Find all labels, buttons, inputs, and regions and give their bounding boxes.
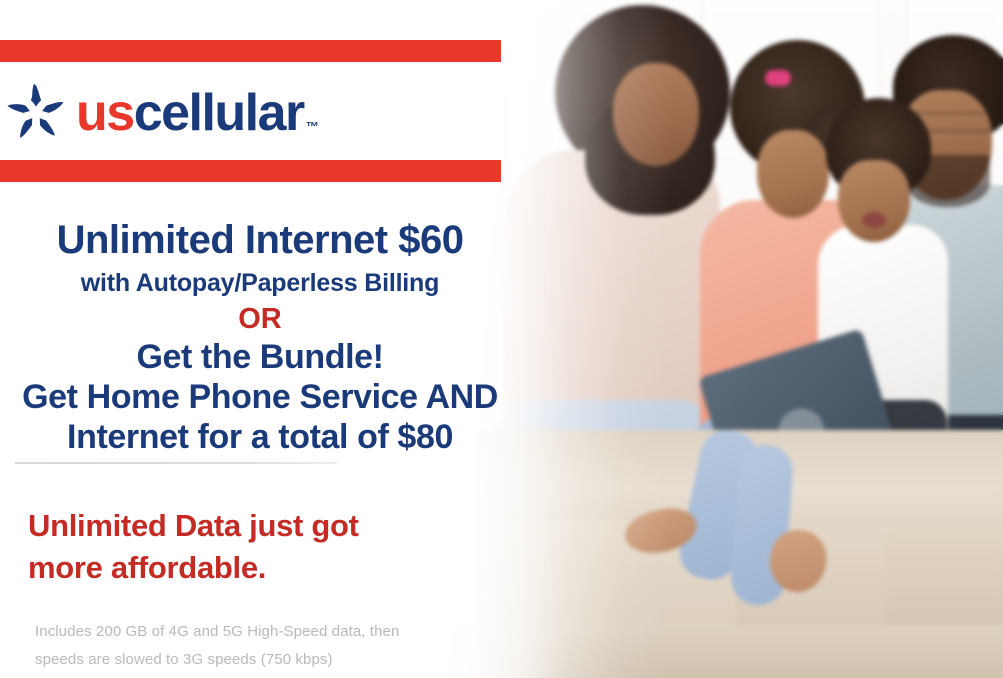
red-bar-top [0,40,501,62]
fine-print-line-2: speeds are slowed to 3G speeds (750 kbps… [35,651,515,668]
headline-bundle-detail-2: Internet for a total of $80 [0,418,520,457]
uscellular-logo: uscellular™ [4,80,424,146]
red-bar-bottom [0,160,501,182]
tagline-line-2: more affordable. [28,550,498,586]
headline-autopay-condition: with Autopay/Paperless Billing [0,269,520,298]
headline-bundle-title: Get the Bundle! [0,338,520,377]
headline-or-separator: OR [0,303,520,336]
wordmark-us: us [76,87,134,139]
headline-primary-offer: Unlimited Internet $60 [0,218,520,263]
headline-bundle-detail-1: Get Home Phone Service AND [0,378,530,417]
tagline-line-1: Unlimited Data just got [28,508,498,544]
section-divider [15,462,337,464]
fine-print-line-1: Includes 200 GB of 4G and 5G High-Speed … [35,623,515,640]
wordmark-cellular: cellular [134,87,304,139]
uscellular-wordmark: uscellular™ [76,87,317,139]
advertisement-canvas: uscellular™ Unlimited Internet $60 with … [0,0,1003,678]
uscellular-star-icon [4,81,68,145]
trademark-symbol: ™ [306,120,318,133]
ad-content: uscellular™ Unlimited Internet $60 with … [0,0,1003,678]
